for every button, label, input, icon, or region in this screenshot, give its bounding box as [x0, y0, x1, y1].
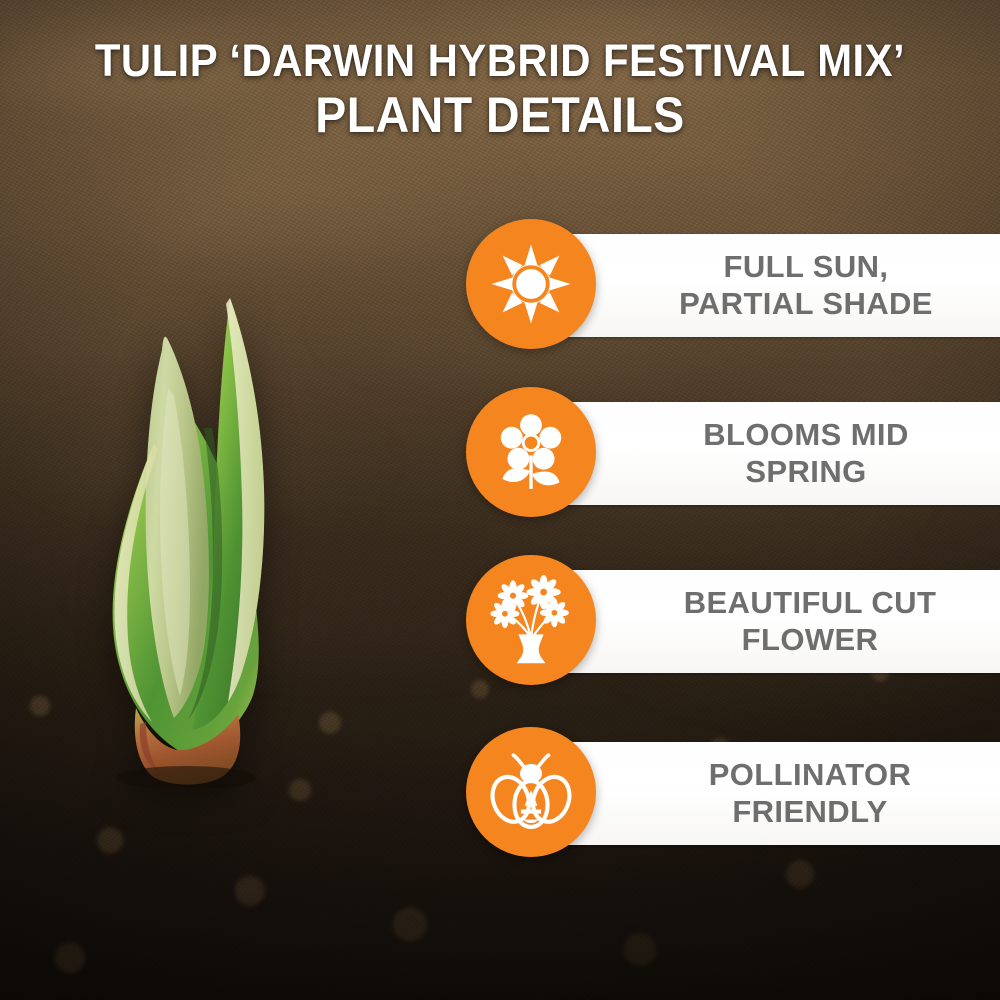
tulip-sprout-photo — [62, 278, 312, 788]
sun-icon — [488, 241, 574, 327]
feature-bar: BLOOMS MID SPRING — [530, 402, 1000, 505]
feature-label: POLLINATOR FRIENDLY — [530, 757, 1000, 830]
feature-label: BLOOMS MID SPRING — [530, 417, 1000, 490]
feature-icon-badge — [466, 555, 596, 685]
plant-details-infographic: TULIP ‘DARWIN HYBRID FESTIVAL MIX’ PLANT… — [0, 0, 1000, 1000]
feature-label: BEAUTIFUL CUT FLOWER — [530, 585, 1000, 658]
feature-icon-badge — [466, 387, 596, 517]
bee-icon — [485, 746, 577, 838]
flower-icon — [489, 410, 573, 494]
feature-icon-badge — [466, 219, 596, 349]
page-title: TULIP ‘DARWIN HYBRID FESTIVAL MIX’ PLANT… — [0, 38, 1000, 141]
feature-label: FULL SUN, PARTIAL SHADE — [569, 249, 961, 322]
feature-bar: FULL SUN, PARTIAL SHADE — [530, 234, 1000, 337]
feature-bar: BEAUTIFUL CUT FLOWER — [530, 570, 1000, 673]
title-line-2: PLANT DETAILS — [35, 90, 965, 141]
feature-bar: POLLINATOR FRIENDLY — [530, 742, 1000, 845]
feature-icon-badge — [466, 727, 596, 857]
vase-bouquet-icon — [486, 575, 576, 665]
title-line-1: TULIP ‘DARWIN HYBRID FESTIVAL MIX’ — [35, 38, 965, 84]
